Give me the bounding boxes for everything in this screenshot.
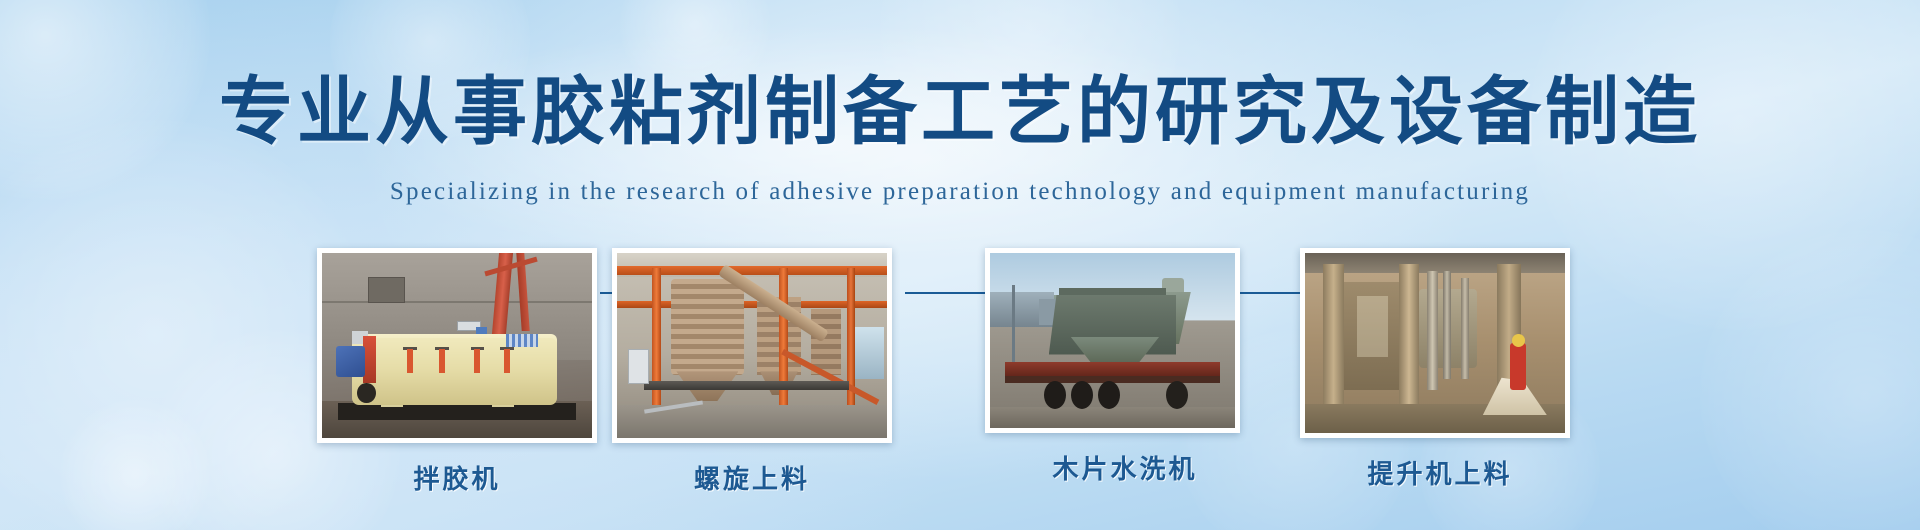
banner-headline: 专业从事胶粘剂制备工艺的研究及设备制造 xyxy=(0,52,1920,159)
product-caption: 提升机上料 xyxy=(1300,454,1580,491)
product-card-wood-chip-washer[interactable]: 木片水洗机 xyxy=(985,248,1265,486)
product-caption: 木片水洗机 xyxy=(985,449,1265,486)
promotional-banner: 专业从事胶粘剂制备工艺的研究及设备制造 Specializing in the … xyxy=(0,0,1920,530)
adhesive-mixer-photo[interactable] xyxy=(317,248,597,443)
connector-line-2 xyxy=(905,292,990,294)
product-caption: 拌胶机 xyxy=(317,459,597,496)
screw-conveyor-photo[interactable] xyxy=(612,248,892,443)
product-caption: 螺旋上料 xyxy=(612,459,892,496)
bucket-elevator-photo[interactable] xyxy=(1300,248,1570,438)
wood-chip-washer-photo[interactable] xyxy=(985,248,1240,433)
banner-subtitle: Specializing in the research of adhesive… xyxy=(0,178,1920,206)
product-card-screw-conveyor[interactable]: 螺旋上料 xyxy=(612,248,892,496)
product-card-adhesive-mixer[interactable]: 拌胶机 xyxy=(317,248,597,496)
product-card-bucket-elevator[interactable]: 提升机上料 xyxy=(1300,248,1580,491)
product-card-row: 拌胶机 螺旋上料 xyxy=(0,248,1920,478)
